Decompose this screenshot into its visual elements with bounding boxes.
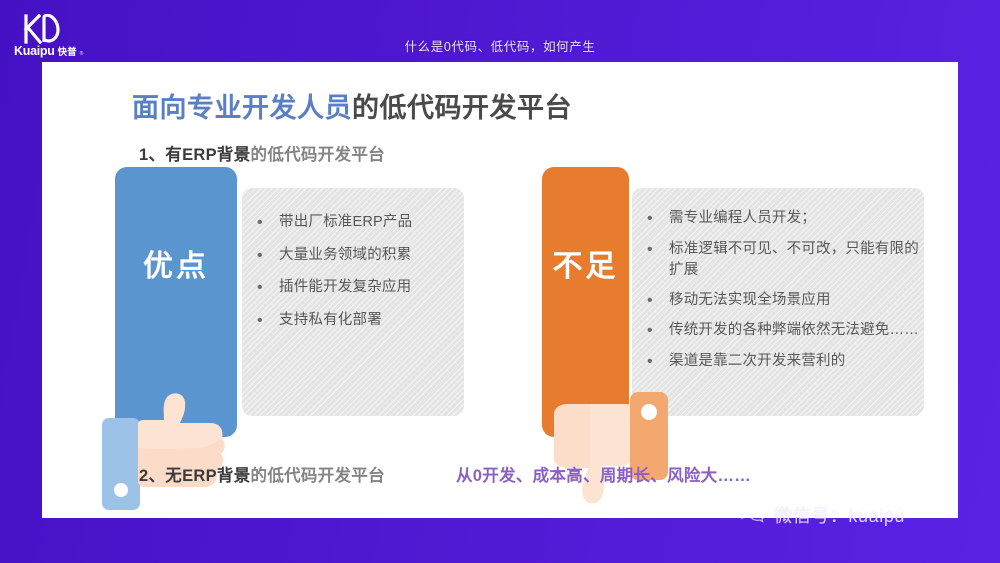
- list-item: • 传统开发的各种弊端依然无法避免……: [647, 320, 922, 342]
- thumbs-up-icon: [102, 392, 282, 514]
- subheading-2: 2、无ERP背景的低代码开发平台: [139, 462, 385, 486]
- list-item-label: 带出厂标准ERP产品: [279, 212, 462, 233]
- cons-bullet-list: • 需专业编程人员开发； • 标准逻辑不可见、不可改，只能有限的扩展 • 移动无…: [647, 208, 922, 381]
- list-item: • 支持私有化部署: [257, 310, 462, 332]
- bullet-dot-icon: •: [647, 208, 669, 230]
- list-item: • 需专业编程人员开发；: [647, 208, 922, 230]
- subheading-2-soft: 的低代码开发平台: [251, 467, 385, 485]
- page-title-plain: 的低代码开发平台: [352, 93, 572, 123]
- list-item-label: 移动无法实现全场景应用: [669, 290, 922, 311]
- thumbs-down-icon: [550, 392, 720, 518]
- content-card: 面向专业开发人员的低代码开发平台 1、有ERP背景的低代码开发平台 优点 不足 …: [42, 62, 958, 518]
- list-item: • 标准逻辑不可见、不可改，只能有限的扩展: [647, 239, 922, 281]
- pros-bullet-list: • 带出厂标准ERP产品 • 大量业务领域的积累 • 插件能开发复杂应用 • 支…: [257, 212, 462, 342]
- subheading-2-tagline: 从0开发、成本高、周期长、风险大……: [456, 462, 751, 486]
- list-item: • 移动无法实现全场景应用: [647, 290, 922, 312]
- bullet-dot-icon: •: [257, 310, 279, 332]
- subheading-1-strong: 1、有ERP背景: [139, 146, 251, 164]
- list-item-label: 支持私有化部署: [279, 310, 462, 331]
- bullet-dot-icon: •: [647, 239, 669, 261]
- subheading-1: 1、有ERP背景的低代码开发平台: [139, 141, 385, 165]
- list-item-label: 需专业编程人员开发；: [669, 208, 922, 229]
- slide-canvas: Kuaipu 快普 ® 什么是0代码、低代码，如何产生 面向专业开发人员的低代码…: [0, 0, 1000, 563]
- bullet-dot-icon: •: [257, 245, 279, 267]
- bullet-dot-icon: •: [647, 320, 669, 342]
- list-item-label: 标准逻辑不可见、不可改，只能有限的扩展: [669, 239, 922, 281]
- page-title-accent: 面向专业开发人员: [132, 93, 352, 123]
- subheading-1-soft: 的低代码开发平台: [251, 146, 385, 164]
- list-item: • 插件能开发复杂应用: [257, 277, 462, 299]
- pros-label: 优点: [143, 241, 209, 285]
- bullet-dot-icon: •: [257, 212, 279, 234]
- list-item: • 大量业务领域的积累: [257, 245, 462, 267]
- bullet-dot-icon: •: [647, 351, 669, 373]
- list-item-label: 传统开发的各种弊端依然无法避免……: [669, 320, 922, 341]
- list-item-label: 插件能开发复杂应用: [279, 277, 462, 298]
- bullet-dot-icon: •: [647, 290, 669, 312]
- cons-label: 不足: [553, 241, 619, 285]
- list-item-label: 渠道是靠二次开发来营利的: [669, 351, 922, 372]
- list-item: • 渠道是靠二次开发来营利的: [647, 351, 922, 373]
- bullet-dot-icon: •: [257, 277, 279, 299]
- list-item: • 带出厂标准ERP产品: [257, 212, 462, 234]
- subheading-2-strong: 2、无ERP背景: [139, 467, 251, 485]
- header-caption: 什么是0代码、低代码，如何产生: [0, 36, 1000, 55]
- page-title: 面向专业开发人员的低代码开发平台: [132, 86, 572, 125]
- list-item-label: 大量业务领域的积累: [279, 245, 462, 266]
